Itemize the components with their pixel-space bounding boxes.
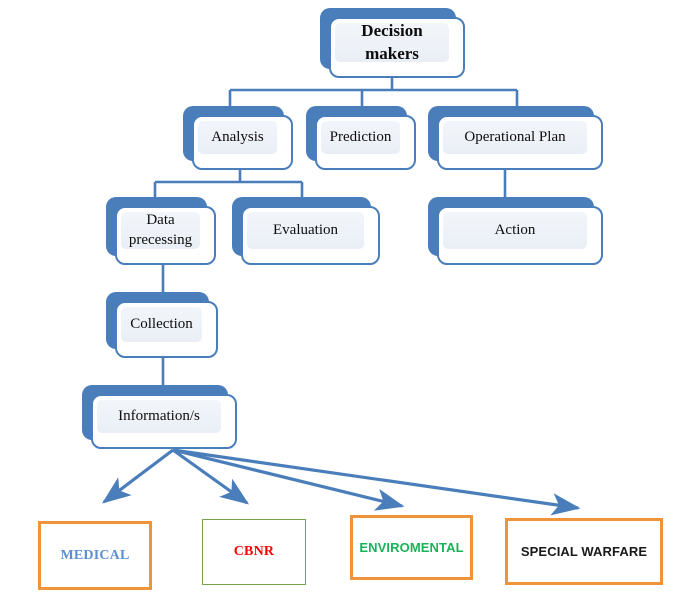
node-evaluation[interactable]: Evaluation (232, 197, 380, 265)
node-body: Collection (115, 301, 218, 358)
node-inner: Evaluation (247, 212, 364, 249)
node-label-informations: Information/s (114, 407, 204, 427)
category-label-special-warfare: SPECIAL WARFARE (508, 544, 660, 559)
node-operational-plan[interactable]: Operational Plan (428, 106, 603, 170)
node-body: Data precessing (115, 206, 216, 265)
category-box-cbnr[interactable]: CBNR (202, 519, 306, 585)
category-box-medical[interactable]: MEDICAL (38, 521, 152, 590)
node-inner: Information/s (97, 400, 221, 433)
node-analysis[interactable]: Analysis (183, 106, 293, 170)
node-label-prediction: Prediction (326, 128, 396, 148)
node-body: Decision makers (329, 17, 465, 78)
fanout-arrows (104, 450, 578, 508)
node-inner: Action (443, 212, 587, 249)
node-label-evaluation: Evaluation (269, 221, 342, 241)
node-inner: Operational Plan (443, 121, 587, 154)
node-body: Information/s (91, 394, 237, 449)
category-label-cbnr: CBNR (203, 544, 305, 560)
node-data-precessing[interactable]: Data precessing (106, 197, 216, 265)
arrow-to-medical (104, 450, 173, 502)
node-collection[interactable]: Collection (106, 292, 218, 358)
arrow-to-special-warfare (173, 450, 578, 508)
node-label-data-precessing: Data precessing (125, 211, 196, 251)
node-inner: Analysis (198, 121, 277, 154)
category-box-special-warfare[interactable]: SPECIAL WARFARE (505, 518, 663, 585)
category-box-enviromental[interactable]: ENVIROMENTAL (350, 515, 473, 580)
node-label-operational-plan: Operational Plan (460, 128, 569, 148)
node-action[interactable]: Action (428, 197, 603, 265)
node-label-analysis: Analysis (207, 128, 268, 148)
node-informations[interactable]: Information/s (82, 385, 237, 449)
category-label-medical: MEDICAL (41, 548, 149, 564)
category-label-enviromental: ENVIROMENTAL (353, 540, 470, 555)
node-body: Evaluation (241, 206, 380, 265)
diagram-canvas: Decision makers Analysis Prediction Oper… (0, 0, 700, 593)
node-inner: Decision makers (335, 23, 449, 62)
node-inner: Data precessing (121, 212, 200, 249)
node-prediction[interactable]: Prediction (306, 106, 416, 170)
node-label-decision-makers: Decision makers (357, 20, 426, 65)
connector-layer (0, 0, 700, 593)
node-body: Operational Plan (437, 115, 603, 170)
node-body: Action (437, 206, 603, 265)
node-label-action: Action (491, 221, 540, 241)
node-inner: Collection (121, 307, 202, 342)
node-decision-makers[interactable]: Decision makers (320, 8, 465, 78)
arrow-to-enviromental (173, 450, 402, 506)
node-inner: Prediction (321, 121, 400, 154)
node-body: Prediction (315, 115, 416, 170)
arrow-to-cbnr (173, 450, 247, 503)
node-body: Analysis (192, 115, 293, 170)
node-label-collection: Collection (126, 315, 197, 335)
